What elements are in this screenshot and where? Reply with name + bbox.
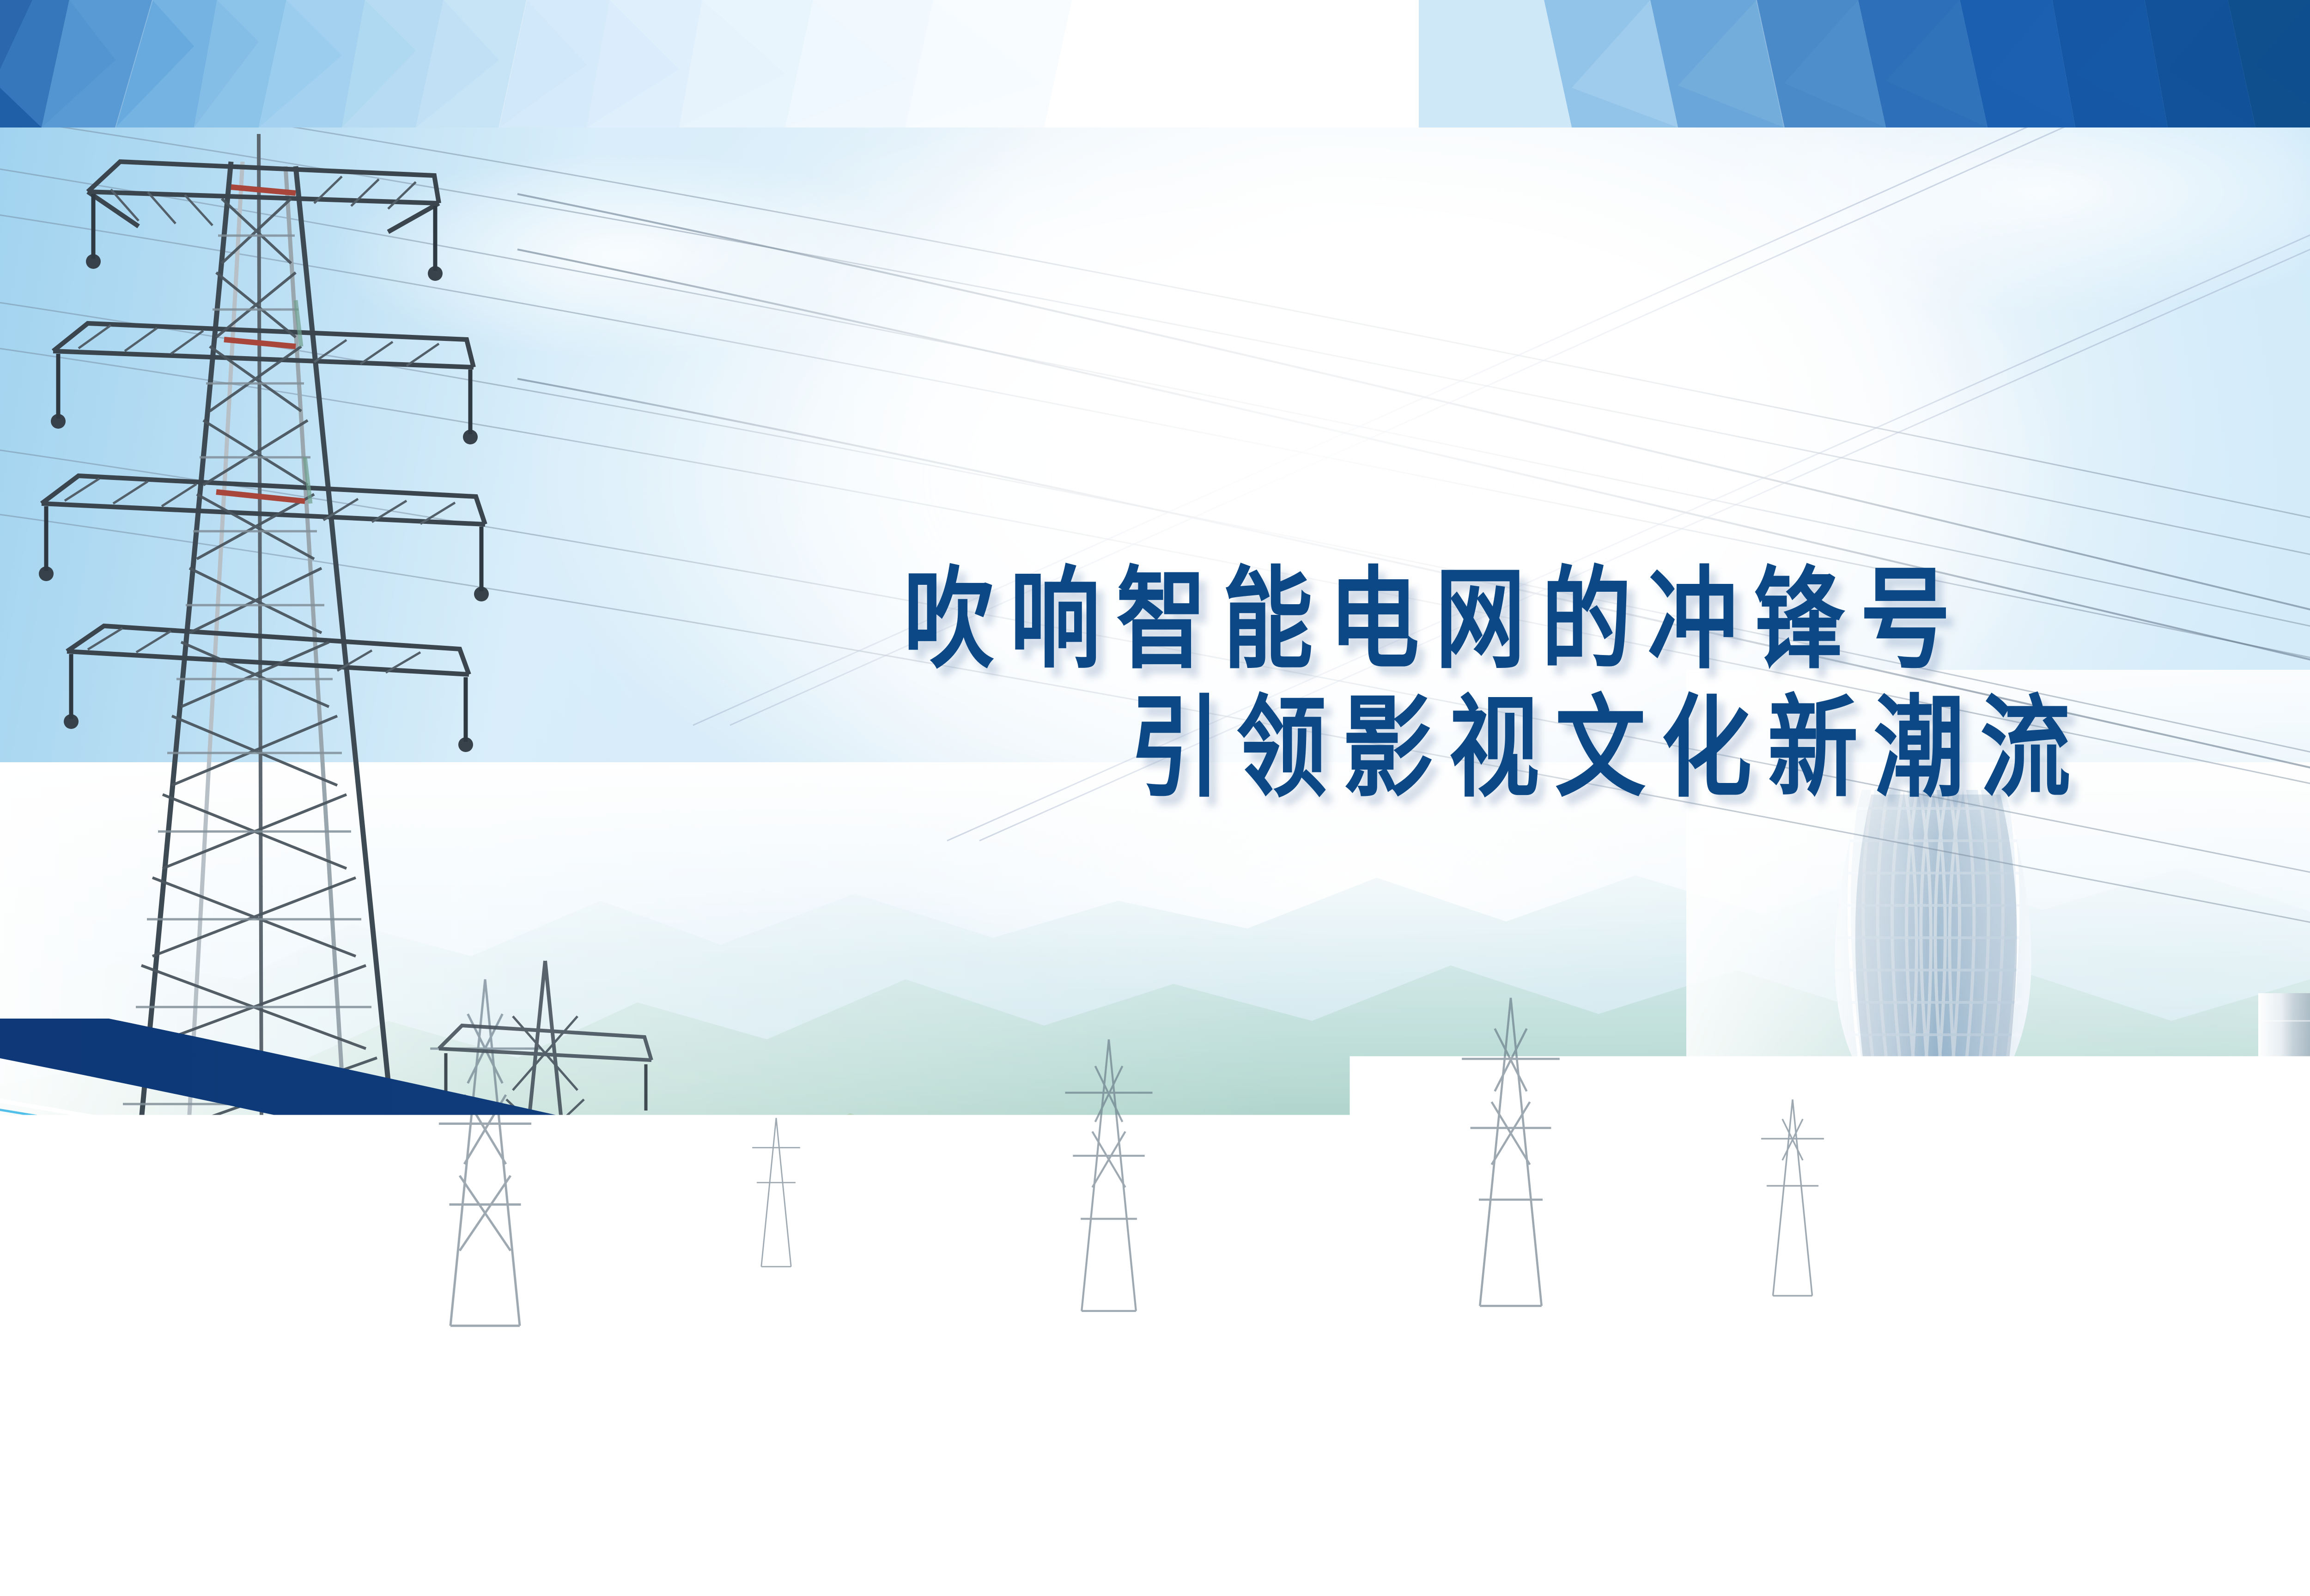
bottom-wave-graphic [0,1019,2310,1596]
poster-canvas: 吹响智能电网的冲锋号 引领影视文化新潮流 [0,0,2310,1596]
top-geometric-band [0,0,2310,127]
top-band-polygons [0,0,2310,127]
